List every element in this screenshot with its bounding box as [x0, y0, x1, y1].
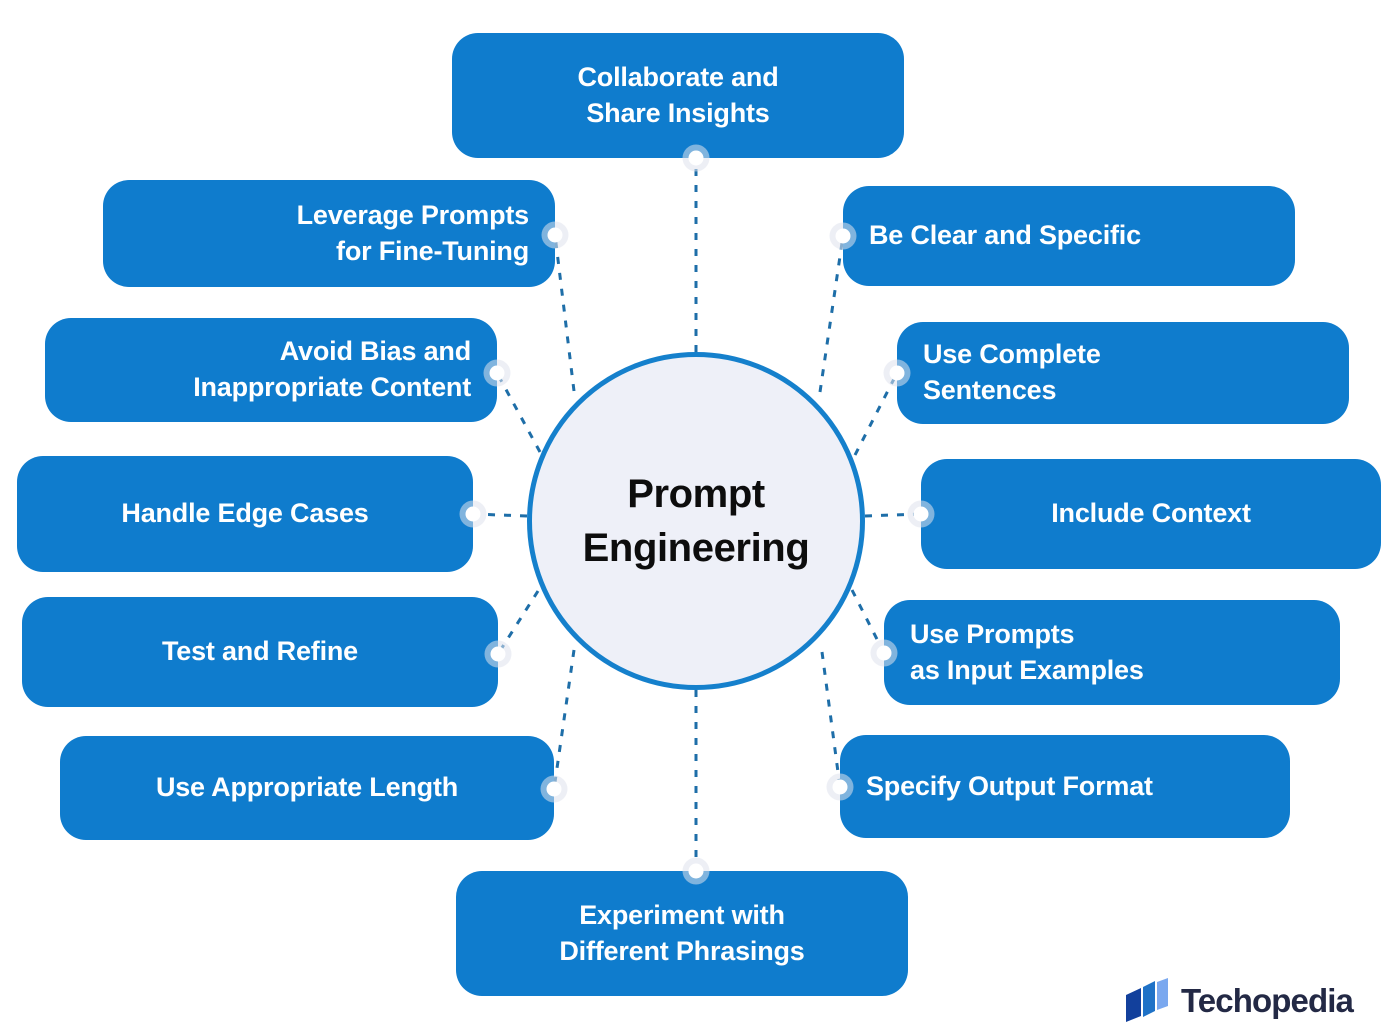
connector-line: [473, 514, 527, 516]
connector-line: [852, 590, 884, 653]
node-label: Test and Refine: [48, 634, 472, 670]
connector-line: [498, 591, 538, 654]
node-specify-output-format[interactable]: Specify Output Format: [840, 735, 1290, 838]
node-label: Include Context: [947, 496, 1355, 532]
connector-line: [554, 650, 574, 789]
node-avoid-bias-and-inappropriate-content[interactable]: Avoid Bias and Inappropriate Content: [45, 318, 497, 422]
node-label: Handle Edge Cases: [43, 496, 447, 532]
hub-node-prompt-engineering[interactable]: Prompt Engineering: [527, 352, 865, 690]
node-use-prompts-as-input-examples[interactable]: Use Prompts as Input Examples: [884, 600, 1340, 705]
connector-line: [497, 373, 540, 452]
connector-dot-collaborate-and-share-insights: [689, 151, 704, 166]
node-label: Specify Output Format: [866, 769, 1264, 805]
logo-shape-light: [1157, 978, 1168, 1010]
connector-dot-avoid-bias-and-inappropriate-content: [490, 366, 505, 381]
node-test-and-refine[interactable]: Test and Refine: [22, 597, 498, 707]
techopedia-wordmark: Techopedia: [1181, 984, 1353, 1017]
connector-dot-be-clear-and-specific: [836, 229, 851, 244]
diagram-canvas: Collaborate and Share InsightsBe Clear a…: [0, 0, 1390, 1030]
node-label: Experiment with Different Phrasings: [482, 898, 882, 970]
connector-dot-experiment-with-different-phrasings: [689, 864, 704, 879]
techopedia-logo: Techopedia: [1124, 978, 1353, 1022]
logo-shape-dark: [1126, 988, 1141, 1022]
connector-dot-handle-edge-cases: [466, 507, 481, 522]
connector-dot-test-and-refine: [491, 647, 506, 662]
techopedia-logo-mark: [1124, 978, 1170, 1022]
node-handle-edge-cases[interactable]: Handle Edge Cases: [17, 456, 473, 572]
connector-dot-include-context: [914, 507, 929, 522]
node-label: Be Clear and Specific: [869, 218, 1269, 254]
connector-dot-use-appropriate-length: [547, 782, 562, 797]
connector-dot-use-complete-sentences: [890, 366, 905, 381]
connector-line: [820, 236, 843, 392]
connector-line: [822, 652, 840, 787]
node-be-clear-and-specific[interactable]: Be Clear and Specific: [843, 186, 1295, 286]
node-label: Use Complete Sentences: [923, 337, 1323, 409]
connector-dot-specify-output-format: [833, 780, 848, 795]
logo-shape-mid: [1143, 981, 1155, 1017]
node-label: Avoid Bias and Inappropriate Content: [71, 334, 471, 406]
node-include-context[interactable]: Include Context: [921, 459, 1381, 569]
node-label: Use Appropriate Length: [86, 770, 528, 806]
connector-line: [855, 373, 897, 455]
node-use-complete-sentences[interactable]: Use Complete Sentences: [897, 322, 1349, 424]
node-label: Leverage Prompts for Fine-Tuning: [129, 198, 529, 270]
connector-line: [555, 235, 574, 391]
node-label: Use Prompts as Input Examples: [910, 617, 1314, 689]
node-leverage-prompts-for-fine-tuning[interactable]: Leverage Prompts for Fine-Tuning: [103, 180, 555, 287]
node-use-appropriate-length[interactable]: Use Appropriate Length: [60, 736, 554, 840]
node-experiment-with-different-phrasings[interactable]: Experiment with Different Phrasings: [456, 871, 908, 996]
connector-dot-leverage-prompts-for-fine-tuning: [548, 228, 563, 243]
hub-label: Prompt Engineering: [583, 467, 810, 575]
node-label: Collaborate and Share Insights: [478, 60, 878, 132]
connector-dot-use-prompts-as-input-examples: [877, 646, 892, 661]
node-collaborate-and-share-insights[interactable]: Collaborate and Share Insights: [452, 33, 904, 158]
